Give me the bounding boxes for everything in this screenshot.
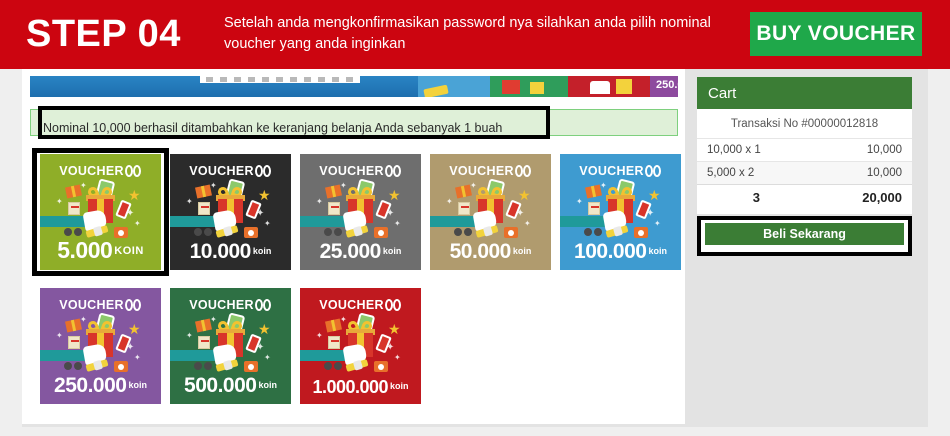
- voucher-illustration: ✦ ✦ ✦ ★ ✦ ✦: [300, 314, 421, 376]
- calendar-note-icon: [328, 202, 340, 215]
- buy-voucher-button[interactable]: BUY VOUCHER: [750, 12, 922, 56]
- sparkle-icon: ✦: [80, 316, 87, 324]
- star-icon: ★: [258, 188, 271, 202]
- small-gift-icon: [195, 185, 212, 199]
- step-title: STEP 04: [26, 10, 181, 58]
- sparkle-icon: ✦: [134, 220, 141, 228]
- sparkle-icon: ✦: [394, 354, 401, 362]
- glasses-icon: [64, 362, 82, 370]
- sparkle-icon: ✦: [256, 344, 264, 352]
- calendar-note-icon: [328, 336, 340, 349]
- calendar-note-icon: [198, 202, 210, 215]
- sparkle-icon: ✦: [134, 354, 141, 362]
- camera-icon: [244, 361, 258, 372]
- double-eight-icon: [125, 299, 142, 311]
- voucher-illustration: ✦ ✦ ✦ ★ ✦ ✦: [560, 180, 681, 242]
- glasses-icon: [584, 228, 602, 236]
- sparkle-icon: ✦: [576, 198, 583, 206]
- calendar-note-icon: [68, 202, 80, 215]
- cart-total-qty: 3: [697, 185, 816, 211]
- voucher-logo-text: VOUCHER: [59, 298, 124, 312]
- sparkle-icon: ✦: [516, 210, 524, 218]
- sparkle-icon: ✦: [394, 220, 401, 228]
- sparkle-icon: ✦: [126, 344, 134, 352]
- cart-button-region: Beli Sekarang: [697, 216, 912, 256]
- voucher88-logo: VOUCHER: [170, 298, 291, 312]
- small-gift-icon: [325, 185, 342, 199]
- cart-items-tbody: 10,000 x 110,0005,000 x 210,000320,000: [697, 139, 912, 211]
- calendar-note-icon: [588, 202, 600, 215]
- voucher-card-50000[interactable]: VOUCHER ✦ ✦ ✦ ★ ✦ ✦ 50.000koin: [430, 154, 551, 270]
- sparkle-icon: ✦: [186, 332, 193, 340]
- page-header: STEP 04 Setelah anda mengkonfirmasikan p…: [0, 0, 950, 69]
- star-icon: ★: [258, 322, 271, 336]
- camera-icon: [374, 361, 388, 372]
- glasses-icon: [194, 228, 212, 236]
- voucher-logo-text: VOUCHER: [189, 298, 254, 312]
- double-eight-icon: [255, 165, 272, 177]
- sparkle-icon: ✦: [210, 182, 217, 190]
- cart-panel: Cart Transaksi No #00000012818 10,000 x …: [697, 77, 912, 256]
- voucher-illustration: ✦ ✦ ✦ ★ ✦ ✦: [40, 180, 161, 242]
- voucher88-logo: VOUCHER: [430, 164, 551, 178]
- banner-promo-amount: 250.000Koin: [656, 79, 678, 91]
- voucher-amount: 5.000: [57, 237, 112, 263]
- sparkle-icon: ✦: [470, 182, 477, 190]
- banner-dot-indicators[interactable]: [206, 77, 356, 82]
- cart-transaction-number: Transaksi No #00000012818: [697, 109, 912, 138]
- camera-icon: [374, 227, 388, 238]
- voucher-logo-text: VOUCHER: [319, 164, 384, 178]
- sparkle-icon: ✦: [646, 210, 654, 218]
- cart-items-table: 10,000 x 110,0005,000 x 210,000320,000: [697, 138, 912, 210]
- sparkle-icon: ✦: [256, 210, 264, 218]
- star-icon: ★: [388, 322, 401, 336]
- voucher-unit: koin: [253, 246, 272, 256]
- voucher-row-1: VOUCHER ✦ ✦ ✦ ★ ✦ ✦ 5.000KOINVOUCHER ✦ ✦…: [32, 148, 680, 275]
- voucher-denomination: 1.000.000koin: [300, 377, 421, 398]
- voucher-card-250000[interactable]: VOUCHER ✦ ✦ ✦ ★ ✦ ✦ 250.000koin: [40, 288, 161, 404]
- voucher-amount: 25.000: [320, 240, 381, 263]
- voucher-unit: koin: [648, 246, 667, 256]
- cart-item-amount: 10,000: [816, 139, 912, 162]
- cart-item-amount: 10,000: [816, 162, 912, 185]
- camera-icon: [504, 227, 518, 238]
- cart-total-row: 320,000: [697, 185, 912, 211]
- cart-title: Cart: [697, 77, 912, 109]
- star-icon: ★: [518, 188, 531, 202]
- glasses-icon: [454, 228, 472, 236]
- alert-message: Nominal 10,000 berhasil ditambahkan ke k…: [43, 121, 502, 135]
- cart-item-row: 5,000 x 210,000: [697, 162, 912, 185]
- small-gift-icon: [65, 185, 82, 199]
- header-description: Setelah anda mengkonfirmasikan password …: [224, 13, 724, 55]
- promo-carousel-banner[interactable]: 250.000Koin: [30, 76, 678, 97]
- calendar-note-icon: [68, 336, 80, 349]
- star-icon: ★: [648, 188, 661, 202]
- camera-icon: [114, 361, 128, 372]
- star-icon: ★: [388, 188, 401, 202]
- sparkle-icon: ✦: [654, 220, 661, 228]
- calendar-note-icon: [458, 202, 470, 215]
- double-eight-icon: [385, 165, 402, 177]
- star-icon: ★: [128, 188, 141, 202]
- voucher88-logo: VOUCHER: [560, 164, 681, 178]
- camera-icon: [634, 227, 648, 238]
- small-gift-icon: [195, 319, 212, 333]
- voucher-row-2: VOUCHER ✦ ✦ ✦ ★ ✦ ✦ 250.000koinVOUCHER ✦…: [32, 282, 680, 409]
- voucher-card-1000000[interactable]: VOUCHER ✦ ✦ ✦ ★ ✦ ✦ 1.000.000koin: [300, 288, 421, 404]
- voucher-amount: 500.000: [184, 374, 256, 397]
- voucher-illustration: ✦ ✦ ✦ ★ ✦ ✦: [170, 314, 291, 376]
- voucher-logo-text: VOUCHER: [319, 298, 384, 312]
- voucher-illustration: ✦ ✦ ✦ ★ ✦ ✦: [300, 180, 421, 242]
- sparkle-icon: ✦: [316, 198, 323, 206]
- sparkle-icon: ✦: [264, 220, 271, 228]
- sparkle-icon: ✦: [56, 198, 63, 206]
- voucher-denomination: 250.000koin: [40, 374, 161, 398]
- voucher-denomination: 5.000KOIN: [40, 237, 161, 264]
- page-body: 250.000Koin Nominal 10,000 berhasil dita…: [0, 69, 950, 436]
- voucher-amount: 10.000: [190, 240, 251, 263]
- voucher-amount: 100.000: [574, 240, 646, 263]
- voucher88-logo: VOUCHER: [300, 164, 421, 178]
- voucher-card-5000[interactable]: VOUCHER ✦ ✦ ✦ ★ ✦ ✦ 5.000KOIN: [40, 154, 161, 270]
- sparkle-icon: ✦: [126, 210, 134, 218]
- voucher-denomination: 100.000koin: [560, 240, 681, 264]
- voucher88-logo: VOUCHER: [40, 298, 161, 312]
- voucher-logo-text: VOUCHER: [449, 164, 514, 178]
- cart-total-amount: 20,000: [816, 185, 912, 211]
- sparkle-icon: ✦: [386, 210, 394, 218]
- double-eight-icon: [255, 299, 272, 311]
- sparkle-icon: ✦: [210, 316, 217, 324]
- beli-sekarang-button[interactable]: Beli Sekarang: [705, 223, 904, 245]
- banner-card-blue: [418, 76, 490, 97]
- voucher-card-10000[interactable]: VOUCHER ✦ ✦ ✦ ★ ✦ ✦ 10.000koin: [170, 154, 291, 270]
- voucher-card-100000[interactable]: VOUCHER ✦ ✦ ✦ ★ ✦ ✦ 100.000koin: [560, 154, 681, 270]
- sparkle-icon: ✦: [524, 220, 531, 228]
- sparkle-icon: ✦: [386, 344, 394, 352]
- voucher-unit: koin: [390, 381, 409, 391]
- voucher-amount: 1.000.000: [312, 377, 388, 397]
- voucher88-logo: VOUCHER: [300, 298, 421, 312]
- voucher-illustration: ✦ ✦ ✦ ★ ✦ ✦: [430, 180, 551, 242]
- glasses-icon: [324, 228, 342, 236]
- cart-item-desc: 10,000 x 1: [697, 139, 816, 162]
- small-gift-icon: [455, 185, 472, 199]
- cart-body: Transaksi No #00000012818 10,000 x 110,0…: [697, 109, 912, 214]
- double-eight-icon: [515, 165, 532, 177]
- cart-item-row: 10,000 x 110,000: [697, 139, 912, 162]
- cart-item-desc: 5,000 x 2: [697, 162, 816, 185]
- sparkle-icon: ✦: [446, 198, 453, 206]
- voucher-unit: koin: [258, 380, 277, 390]
- sparkle-icon: ✦: [56, 332, 63, 340]
- sparkle-icon: ✦: [316, 332, 323, 340]
- voucher-denomination: 10.000koin: [170, 240, 291, 264]
- success-alert: Nominal 10,000 berhasil ditambahkan ke k…: [30, 109, 678, 136]
- small-gift-icon: [585, 185, 602, 199]
- banner-card-red: [568, 76, 650, 97]
- voucher-unit: koin: [383, 246, 402, 256]
- voucher-unit: koin: [128, 380, 147, 390]
- sparkle-icon: ✦: [600, 182, 607, 190]
- glasses-icon: [324, 362, 342, 370]
- sparkle-icon: ✦: [340, 182, 347, 190]
- banner-amount-value: 250.000: [656, 79, 678, 91]
- glasses-icon: [194, 362, 212, 370]
- voucher-amount: 250.000: [54, 374, 126, 397]
- double-eight-icon: [645, 165, 662, 177]
- voucher88-logo: VOUCHER: [170, 164, 291, 178]
- banner-card-green: [490, 76, 568, 97]
- voucher-denomination: 500.000koin: [170, 374, 291, 398]
- voucher-amount: 50.000: [450, 240, 511, 263]
- voucher-logo-text: VOUCHER: [59, 164, 124, 178]
- calendar-note-icon: [198, 336, 210, 349]
- small-gift-icon: [325, 319, 342, 333]
- voucher-logo-text: VOUCHER: [579, 164, 644, 178]
- voucher-card-500000[interactable]: VOUCHER ✦ ✦ ✦ ★ ✦ ✦ 500.000koin: [170, 288, 291, 404]
- voucher88-logo: VOUCHER: [40, 164, 161, 178]
- voucher-unit: koin: [513, 246, 532, 256]
- sparkle-icon: ✦: [186, 198, 193, 206]
- star-icon: ★: [128, 322, 141, 336]
- sparkle-icon: ✦: [264, 354, 271, 362]
- voucher-logo-text: VOUCHER: [189, 164, 254, 178]
- voucher-card-25000[interactable]: VOUCHER ✦ ✦ ✦ ★ ✦ ✦ 25.000koin: [300, 154, 421, 270]
- alert-region: Nominal 10,000 berhasil ditambahkan ke k…: [30, 106, 678, 139]
- voucher-denomination: 25.000koin: [300, 240, 421, 264]
- voucher-denomination: 50.000koin: [430, 240, 551, 264]
- sparkle-icon: ✦: [80, 182, 87, 190]
- sparkle-icon: ✦: [340, 316, 347, 324]
- glasses-icon: [64, 228, 82, 236]
- camera-icon: [244, 227, 258, 238]
- double-eight-icon: [125, 165, 142, 177]
- double-eight-icon: [385, 299, 402, 311]
- small-gift-icon: [65, 319, 82, 333]
- voucher-illustration: ✦ ✦ ✦ ★ ✦ ✦: [170, 180, 291, 242]
- voucher-illustration: ✦ ✦ ✦ ★ ✦ ✦: [40, 314, 161, 376]
- voucher-unit: KOIN: [114, 245, 144, 257]
